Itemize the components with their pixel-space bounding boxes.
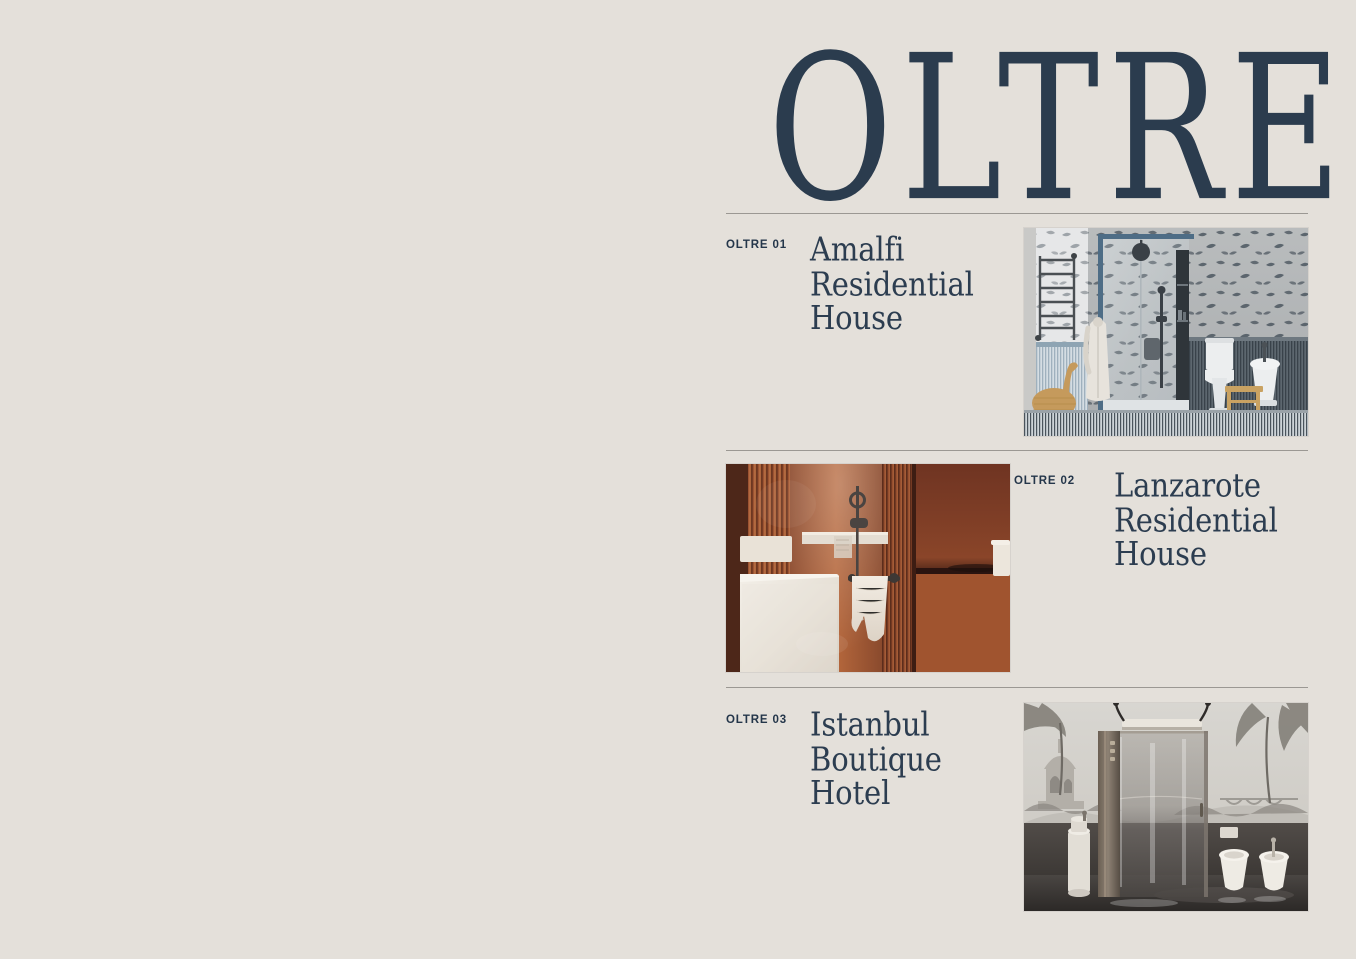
catalogue-page: OLTRE OLTRE 01 Amalfi Residential House [726,0,1308,959]
project-row[interactable]: OLTRE 02 Lanzarote Residential House [726,464,1308,679]
amalfi-residential-house-bathroom-photo[interactable] [1024,228,1308,436]
project-text-block: OLTRE 02 Lanzarote Residential House [1010,464,1308,560]
project-index-label: OLTRE 03 [726,707,810,726]
divider-rule-3 [726,687,1308,688]
project-title: Amalfi Residential House [810,232,974,335]
brand-title: OLTRE [768,45,1308,214]
project-index-label: OLTRE 01 [726,232,810,251]
project-title-line: Residential [810,266,974,300]
project-title-line: House [1114,537,1278,571]
divider-rule-1 [726,213,1308,214]
project-title-line: Residential [1114,502,1278,536]
project-row[interactable]: OLTRE 01 Amalfi Residential House [726,228,1308,443]
project-title: Lanzarote Residential House [1114,468,1278,571]
project-text-block: OLTRE 01 Amalfi Residential House [726,228,1024,324]
project-title-line: Amalfi [810,232,974,266]
lanzarote-residential-house-bathroom-photo[interactable] [726,464,1010,672]
project-title-line: Lanzarote [1114,468,1278,502]
project-row[interactable]: OLTRE 03 Istanbul Boutique Hotel [726,703,1308,918]
project-index-label: OLTRE 02 [1014,468,1114,487]
istanbul-boutique-hotel-bathroom-photo[interactable] [1024,703,1308,911]
project-title-line: Hotel [810,776,942,810]
project-text-block: OLTRE 03 Istanbul Boutique Hotel [726,703,1024,799]
project-title-line: Boutique [810,741,942,775]
project-title: Istanbul Boutique Hotel [810,707,942,810]
project-title-line: Istanbul [810,707,942,741]
divider-rule-2 [726,450,1308,451]
project-title-line: House [810,301,974,335]
